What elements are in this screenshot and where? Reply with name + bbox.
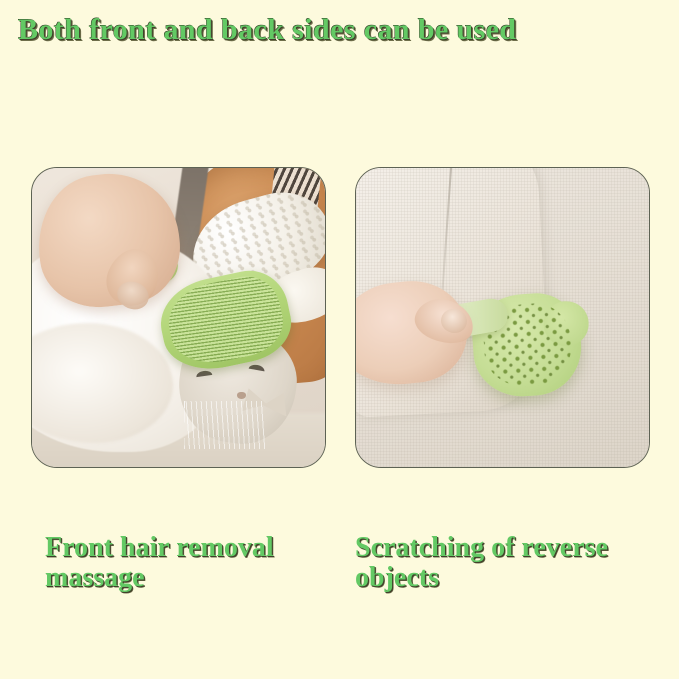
photo-panel-front-side <box>31 167 326 468</box>
product-feature-image: Both front and back sides can be used <box>0 0 679 679</box>
photo-panel-row <box>31 167 648 466</box>
caption-row: Front hair removal massage Scratching of… <box>0 533 679 653</box>
caption-front-side: Front hair removal massage <box>45 533 335 593</box>
brush-on-sofa-photo <box>356 168 649 467</box>
photo-panel-reverse-side <box>355 167 650 468</box>
caption-reverse-side: Scratching of reverse objects <box>355 533 655 593</box>
page-title: Both front and back sides can be used <box>18 13 658 47</box>
cat-whiskers <box>184 401 266 449</box>
cat-being-brushed-photo <box>32 168 325 467</box>
